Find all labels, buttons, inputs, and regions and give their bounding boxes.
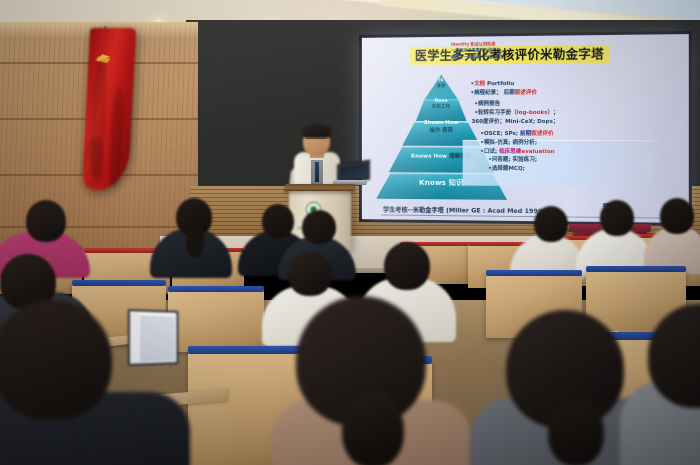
person-head	[262, 204, 294, 238]
person-ponytail	[548, 398, 604, 465]
slide-bullet: •模拟-仿真; 病例分析;	[480, 139, 672, 148]
slide-bullet: 360度评价；Mini-CeX; Dops；	[472, 117, 673, 126]
person-head	[26, 200, 66, 242]
pyramid-level-cn: 实际工作	[432, 105, 450, 110]
slide-apex-annotation: Identity 职业认同形成一是展示出态度行为如行为,像医生一样思考、行动和感…	[451, 41, 540, 61]
slide-caption: 学生考核--米勒金字塔 (Miller GE : Acad Med 1990)	[383, 205, 545, 216]
flag-fold	[82, 138, 105, 188]
pyramid-level-cn: 身份	[437, 84, 446, 89]
audience-laptop-screen	[128, 309, 179, 366]
slide-bullet: •OSCE; SPs; 前期叙述评价	[480, 130, 672, 139]
person-head	[0, 300, 112, 420]
slide-bullet: •选择题MCQ;	[488, 165, 672, 175]
pyramid-level-en: Shows How	[424, 120, 459, 126]
pyramid-level-en: Knows How	[411, 154, 447, 160]
person-head	[302, 210, 336, 244]
person-head	[288, 252, 332, 296]
person-ponytail	[186, 224, 204, 258]
person-head	[660, 198, 694, 234]
document-text-lines	[140, 316, 175, 361]
presenter-laptop-screen	[340, 163, 368, 182]
slide-bullet: •病程纪录； 后期叙述评价	[471, 88, 673, 98]
speaker-hair	[302, 124, 331, 138]
projection-screen: 医学生多元化考核评价米勒金字塔 Identity 职业认同形成一是展示出态度行为…	[362, 34, 689, 223]
pyramid-level-en: Knows	[419, 178, 446, 187]
podium-top-surface	[285, 184, 355, 191]
audience-laptop[interactable]	[128, 310, 186, 370]
pyramid-level-cn: 知识	[449, 178, 464, 187]
pyramid-level-en: Does	[435, 99, 448, 104]
speaker-tie	[315, 162, 319, 182]
speaker-glasses-icon	[306, 138, 327, 142]
seat-trim	[72, 280, 166, 286]
slide-bullet-list: •文档 Portfoliu •病程纪录； 后期叙述评价 •病例报告 •轮转实习手…	[471, 79, 673, 174]
person-head	[384, 242, 430, 290]
slide-bullet: •轮转实习手册（log-books）；	[474, 109, 672, 118]
seat-trim	[168, 286, 264, 292]
lecture-hall-photo: 医学生多元化考核评价米勒金字塔 Identity 职业认同形成一是展示出态度行为…	[0, 0, 700, 465]
pyramid-level-cn: 操作 表现	[429, 128, 452, 134]
flag-fold	[108, 88, 125, 188]
person-ponytail	[342, 392, 404, 465]
person-head	[600, 200, 634, 236]
pyramid-level-en: Is	[439, 78, 443, 83]
seat-trim	[586, 266, 686, 272]
person-head	[534, 206, 568, 242]
document-margin	[130, 313, 139, 362]
seat-trim	[486, 270, 582, 276]
